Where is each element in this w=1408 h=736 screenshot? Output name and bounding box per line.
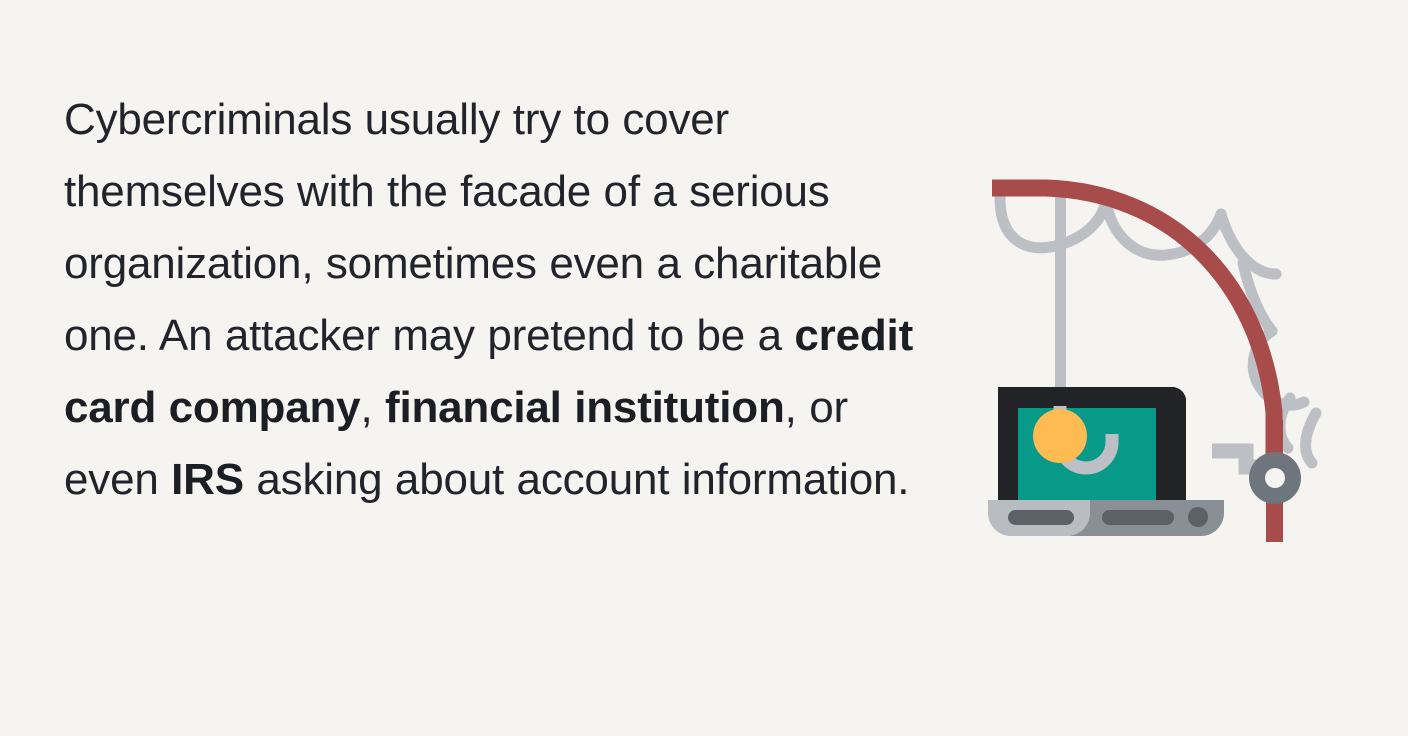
fishing-drop-line — [1055, 197, 1066, 412]
body-paragraph: Cybercriminals usually try to cover them… — [64, 84, 944, 516]
paragraph-segment-2: , — [360, 383, 385, 432]
bait-ball-icon — [1033, 409, 1087, 463]
copy-block: Cybercriminals usually try to cover them… — [64, 84, 944, 516]
port-dot-icon — [1188, 507, 1208, 527]
infographic-card: Cybercriminals usually try to cover them… — [0, 0, 1408, 736]
paragraph-segment-1: Cybercriminals usually try to cover them… — [64, 95, 882, 360]
emphasis-financial-institution: financial institution — [385, 383, 785, 432]
emphasis-irs: IRS — [171, 455, 244, 504]
phishing-illustration — [960, 170, 1360, 560]
touchpad-bar-right-icon — [1102, 510, 1174, 525]
paragraph-segment-4: asking about account information. — [244, 455, 909, 504]
reel-hub-icon — [1265, 468, 1285, 488]
touchpad-bar-left-icon — [1008, 510, 1074, 525]
